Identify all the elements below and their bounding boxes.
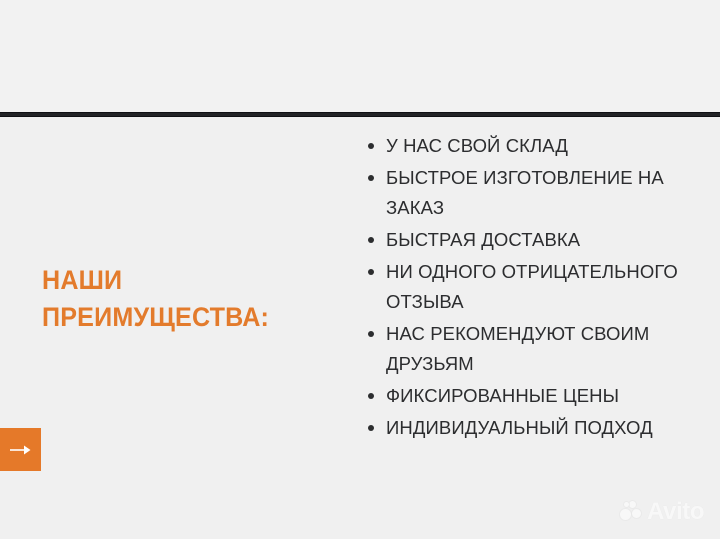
benefits-list: У НАС СВОЙ СКЛАД БЫСТРОЕ ИЗГОТОВЛЕНИЕ НА…: [362, 131, 710, 445]
list-item: БЫСТРАЯ ДОСТАВКА: [362, 225, 710, 255]
list-item-label: БЫСТРАЯ ДОСТАВКА: [386, 225, 710, 255]
top-band: [0, 0, 720, 113]
list-item: ФИКСИРОВАННЫЕ ЦЕНЫ: [362, 381, 710, 411]
page-title: НАШИ ПРЕИМУЩЕСТВА:: [42, 262, 330, 336]
slide-canvas: НАШИ ПРЕИМУЩЕСТВА: У НАС СВОЙ СКЛАД БЫСТ…: [0, 0, 720, 539]
list-item-label: У НАС СВОЙ СКЛАД: [386, 131, 710, 161]
bullet-icon: [368, 143, 374, 149]
avito-dots-logo-icon: [620, 500, 644, 524]
list-item-label: НИ ОДНОГО ОТРИЦАТЕЛЬНОГО ОТЗЫВА: [386, 257, 710, 317]
page-title-line-2: ПРЕИМУЩЕСТВА:: [42, 299, 330, 336]
next-slide-button[interactable]: [0, 428, 41, 471]
bullet-icon: [368, 393, 374, 399]
list-item: НАС РЕКОМЕНДУЮТ СВОИМ ДРУЗЬЯМ: [362, 319, 710, 379]
bullet-icon: [368, 237, 374, 243]
list-item: У НАС СВОЙ СКЛАД: [362, 131, 710, 161]
bullet-icon: [368, 175, 374, 181]
list-item: ИНДИВИДУАЛЬНЫЙ ПОДХОД: [362, 413, 710, 443]
bullet-icon: [368, 331, 374, 337]
avito-watermark-label: Avito: [647, 500, 704, 524]
page-title-line-1: НАШИ: [42, 262, 330, 299]
bullet-icon: [368, 269, 374, 275]
arrow-right-icon: [10, 444, 32, 456]
list-item-label: ИНДИВИДУАЛЬНЫЙ ПОДХОД: [386, 413, 710, 443]
list-item-label: БЫСТРОЕ ИЗГОТОВЛЕНИЕ НА ЗАКАЗ: [386, 163, 710, 223]
horizontal-divider: [0, 112, 720, 117]
list-item: НИ ОДНОГО ОТРИЦАТЕЛЬНОГО ОТЗЫВА: [362, 257, 710, 317]
avito-watermark: Avito: [620, 496, 714, 528]
bullet-icon: [368, 425, 374, 431]
list-item: БЫСТРОЕ ИЗГОТОВЛЕНИЕ НА ЗАКАЗ: [362, 163, 710, 223]
list-item-label: ФИКСИРОВАННЫЕ ЦЕНЫ: [386, 381, 710, 411]
list-item-label: НАС РЕКОМЕНДУЮТ СВОИМ ДРУЗЬЯМ: [386, 319, 710, 379]
